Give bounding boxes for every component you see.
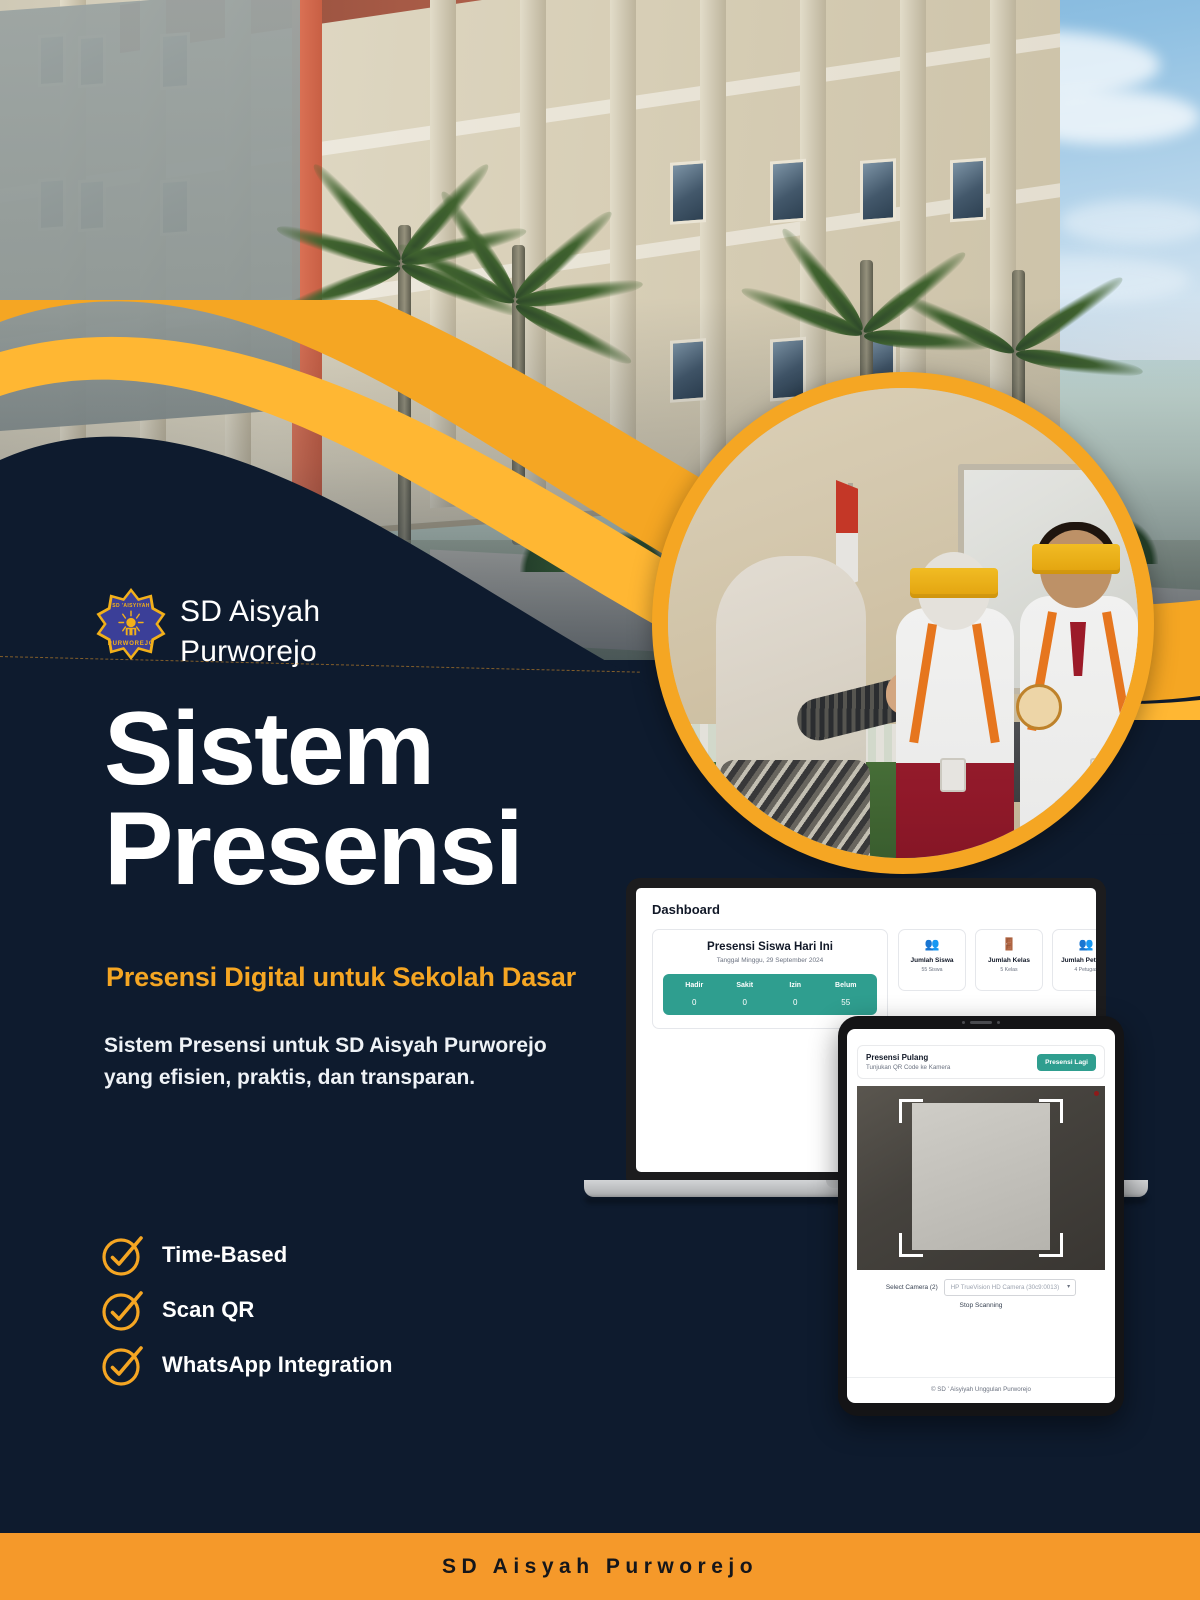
scan-corner-icon xyxy=(899,1099,923,1123)
speaker-grille-icon xyxy=(970,1021,992,1024)
page-title: Sistem Presensi xyxy=(104,700,704,900)
stat-card-label: Jumlah Petugas xyxy=(1058,957,1096,964)
col-header: Hadir xyxy=(669,982,720,989)
stat-card-value: 4 Petugas xyxy=(1058,967,1096,973)
school-logo-icon: SD 'AISYIYAH PURWOREJO xyxy=(95,588,167,660)
col-header: Sakit xyxy=(720,982,771,989)
door-icon: 🚪 xyxy=(981,938,1037,950)
feature-item-time-based: Time-Based xyxy=(100,1232,393,1278)
people-icon: 👥 xyxy=(1058,938,1096,950)
feature-item-whatsapp-integration: WhatsApp Integration xyxy=(100,1342,393,1388)
scanner-footer: © SD ' Aisyiyah Unggulan Purworejo xyxy=(847,1377,1115,1403)
check-circle-icon xyxy=(100,1233,144,1277)
stop-scanning-link[interactable]: Stop Scanning xyxy=(861,1302,1101,1309)
tablet-mockup: Presensi Pulang Tunjukan QR Code ke Kame… xyxy=(838,1016,1124,1416)
attendance-col-sakit: Sakit 0 xyxy=(720,982,771,1007)
sensor-dot-icon xyxy=(997,1021,1000,1024)
feature-label: WhatsApp Integration xyxy=(162,1352,393,1378)
recording-indicator-icon xyxy=(1094,1091,1099,1096)
check-circle-icon xyxy=(100,1343,144,1387)
dashboard-title: Dashboard xyxy=(652,902,1080,917)
logo-text-bottom: PURWOREJO xyxy=(95,641,167,647)
chevron-down-icon: ▾ xyxy=(1067,1283,1070,1290)
scanner-subtitle: Tunjukan QR Code ke Kamera xyxy=(866,1064,950,1071)
scanner-app: Presensi Pulang Tunjukan QR Code ke Kame… xyxy=(847,1029,1115,1377)
feature-label: Time-Based xyxy=(162,1242,287,1268)
camera-select-value: HP TrueVision HD Camera (30c9:0013) xyxy=(951,1284,1059,1291)
stat-card-jumlah-kelas: 🚪 Jumlah Kelas 5 Kelas xyxy=(975,929,1043,991)
scanner-title: Presensi Pulang xyxy=(866,1053,950,1062)
brand-name: SD Aisyah Purworejo xyxy=(180,592,510,671)
feature-item-scan-qr: Scan QR xyxy=(100,1287,393,1333)
camera-controls: Select Camera (2) HP TrueVision HD Camer… xyxy=(857,1270,1105,1309)
attendance-table: Hadir 0 Sakit 0 Izin 0 xyxy=(663,974,877,1015)
subheadline: Presensi Digital untuk Sekolah Dasar xyxy=(106,962,576,993)
footer-text: SD Aisyah Purworejo xyxy=(442,1555,758,1579)
attendance-card-title: Presensi Siswa Hari Ini xyxy=(663,941,877,953)
camera-dot-icon xyxy=(962,1021,965,1024)
stat-card-group: 👥 Jumlah Siswa 55 Siswa 🚪 Jumlah Kelas 5… xyxy=(898,929,1096,991)
poster-root: SD 'AISYIYAH PURWOREJO SD Aisyah Purwore… xyxy=(0,0,1200,1600)
feature-list: Time-Based Scan QR WhatsApp Integration xyxy=(100,1232,393,1397)
tablet-screen: Presensi Pulang Tunjukan QR Code ke Kame… xyxy=(847,1029,1115,1403)
col-value: 0 xyxy=(669,998,720,1007)
select-camera-label: Select Camera (2) xyxy=(886,1284,938,1291)
headline-line1: Sistem xyxy=(104,691,433,807)
col-value: 0 xyxy=(720,998,771,1007)
classroom-photo xyxy=(652,372,1154,874)
scan-corner-icon xyxy=(1039,1233,1063,1257)
check-circle-icon xyxy=(100,1288,144,1332)
device-mockups: Dashboard Presensi Siswa Hari Ini Tangga… xyxy=(560,878,1180,1438)
scanner-header: Presensi Pulang Tunjukan QR Code ke Kame… xyxy=(857,1045,1105,1079)
sun-emblem-icon xyxy=(116,609,146,639)
body-line2: yang efisien, praktis, dan transparan. xyxy=(104,1062,624,1094)
stat-card-jumlah-siswa: 👥 Jumlah Siswa 55 Siswa xyxy=(898,929,966,991)
col-header: Belum xyxy=(821,982,872,989)
attendance-col-belum: Belum 55 xyxy=(821,982,872,1007)
stat-card-jumlah-petugas: 👥 Jumlah Petugas 4 Petugas xyxy=(1052,929,1096,991)
attendance-col-izin: Izin 0 xyxy=(770,982,821,1007)
tablet-sensors xyxy=(962,1021,1000,1024)
body-copy: Sistem Presensi untuk SD Aisyah Purworej… xyxy=(104,1030,624,1094)
stat-card-value: 55 Siswa xyxy=(904,967,960,973)
attendance-card: Presensi Siswa Hari Ini Tanggal Minggu, … xyxy=(652,929,888,1029)
presensi-lagi-button[interactable]: Presensi Lagi xyxy=(1037,1054,1096,1071)
col-value: 0 xyxy=(770,998,821,1007)
col-value: 55 xyxy=(821,998,872,1007)
logo-text-top: SD 'AISYIYAH xyxy=(95,603,167,609)
users-group-icon: 👥 xyxy=(904,938,960,950)
stat-card-value: 5 Kelas xyxy=(981,967,1037,973)
attendance-card-date: Tanggal Minggu, 29 September 2024 xyxy=(663,957,877,964)
footer-bar: SD Aisyah Purworejo xyxy=(0,1533,1200,1600)
scanned-document xyxy=(912,1103,1051,1250)
col-header: Izin xyxy=(770,982,821,989)
camera-preview[interactable] xyxy=(857,1086,1105,1270)
scan-corner-icon xyxy=(1039,1099,1063,1123)
feature-label: Scan QR xyxy=(162,1297,254,1323)
stat-card-label: Jumlah Kelas xyxy=(981,957,1037,964)
camera-select-dropdown[interactable]: HP TrueVision HD Camera (30c9:0013) ▾ xyxy=(944,1279,1076,1296)
brand-name-line1: SD Aisyah xyxy=(180,592,510,632)
attendance-col-hadir: Hadir 0 xyxy=(669,982,720,1007)
body-line1: Sistem Presensi untuk SD Aisyah Purworej… xyxy=(104,1030,624,1062)
scan-corner-icon xyxy=(899,1233,923,1257)
stat-card-label: Jumlah Siswa xyxy=(904,957,960,964)
